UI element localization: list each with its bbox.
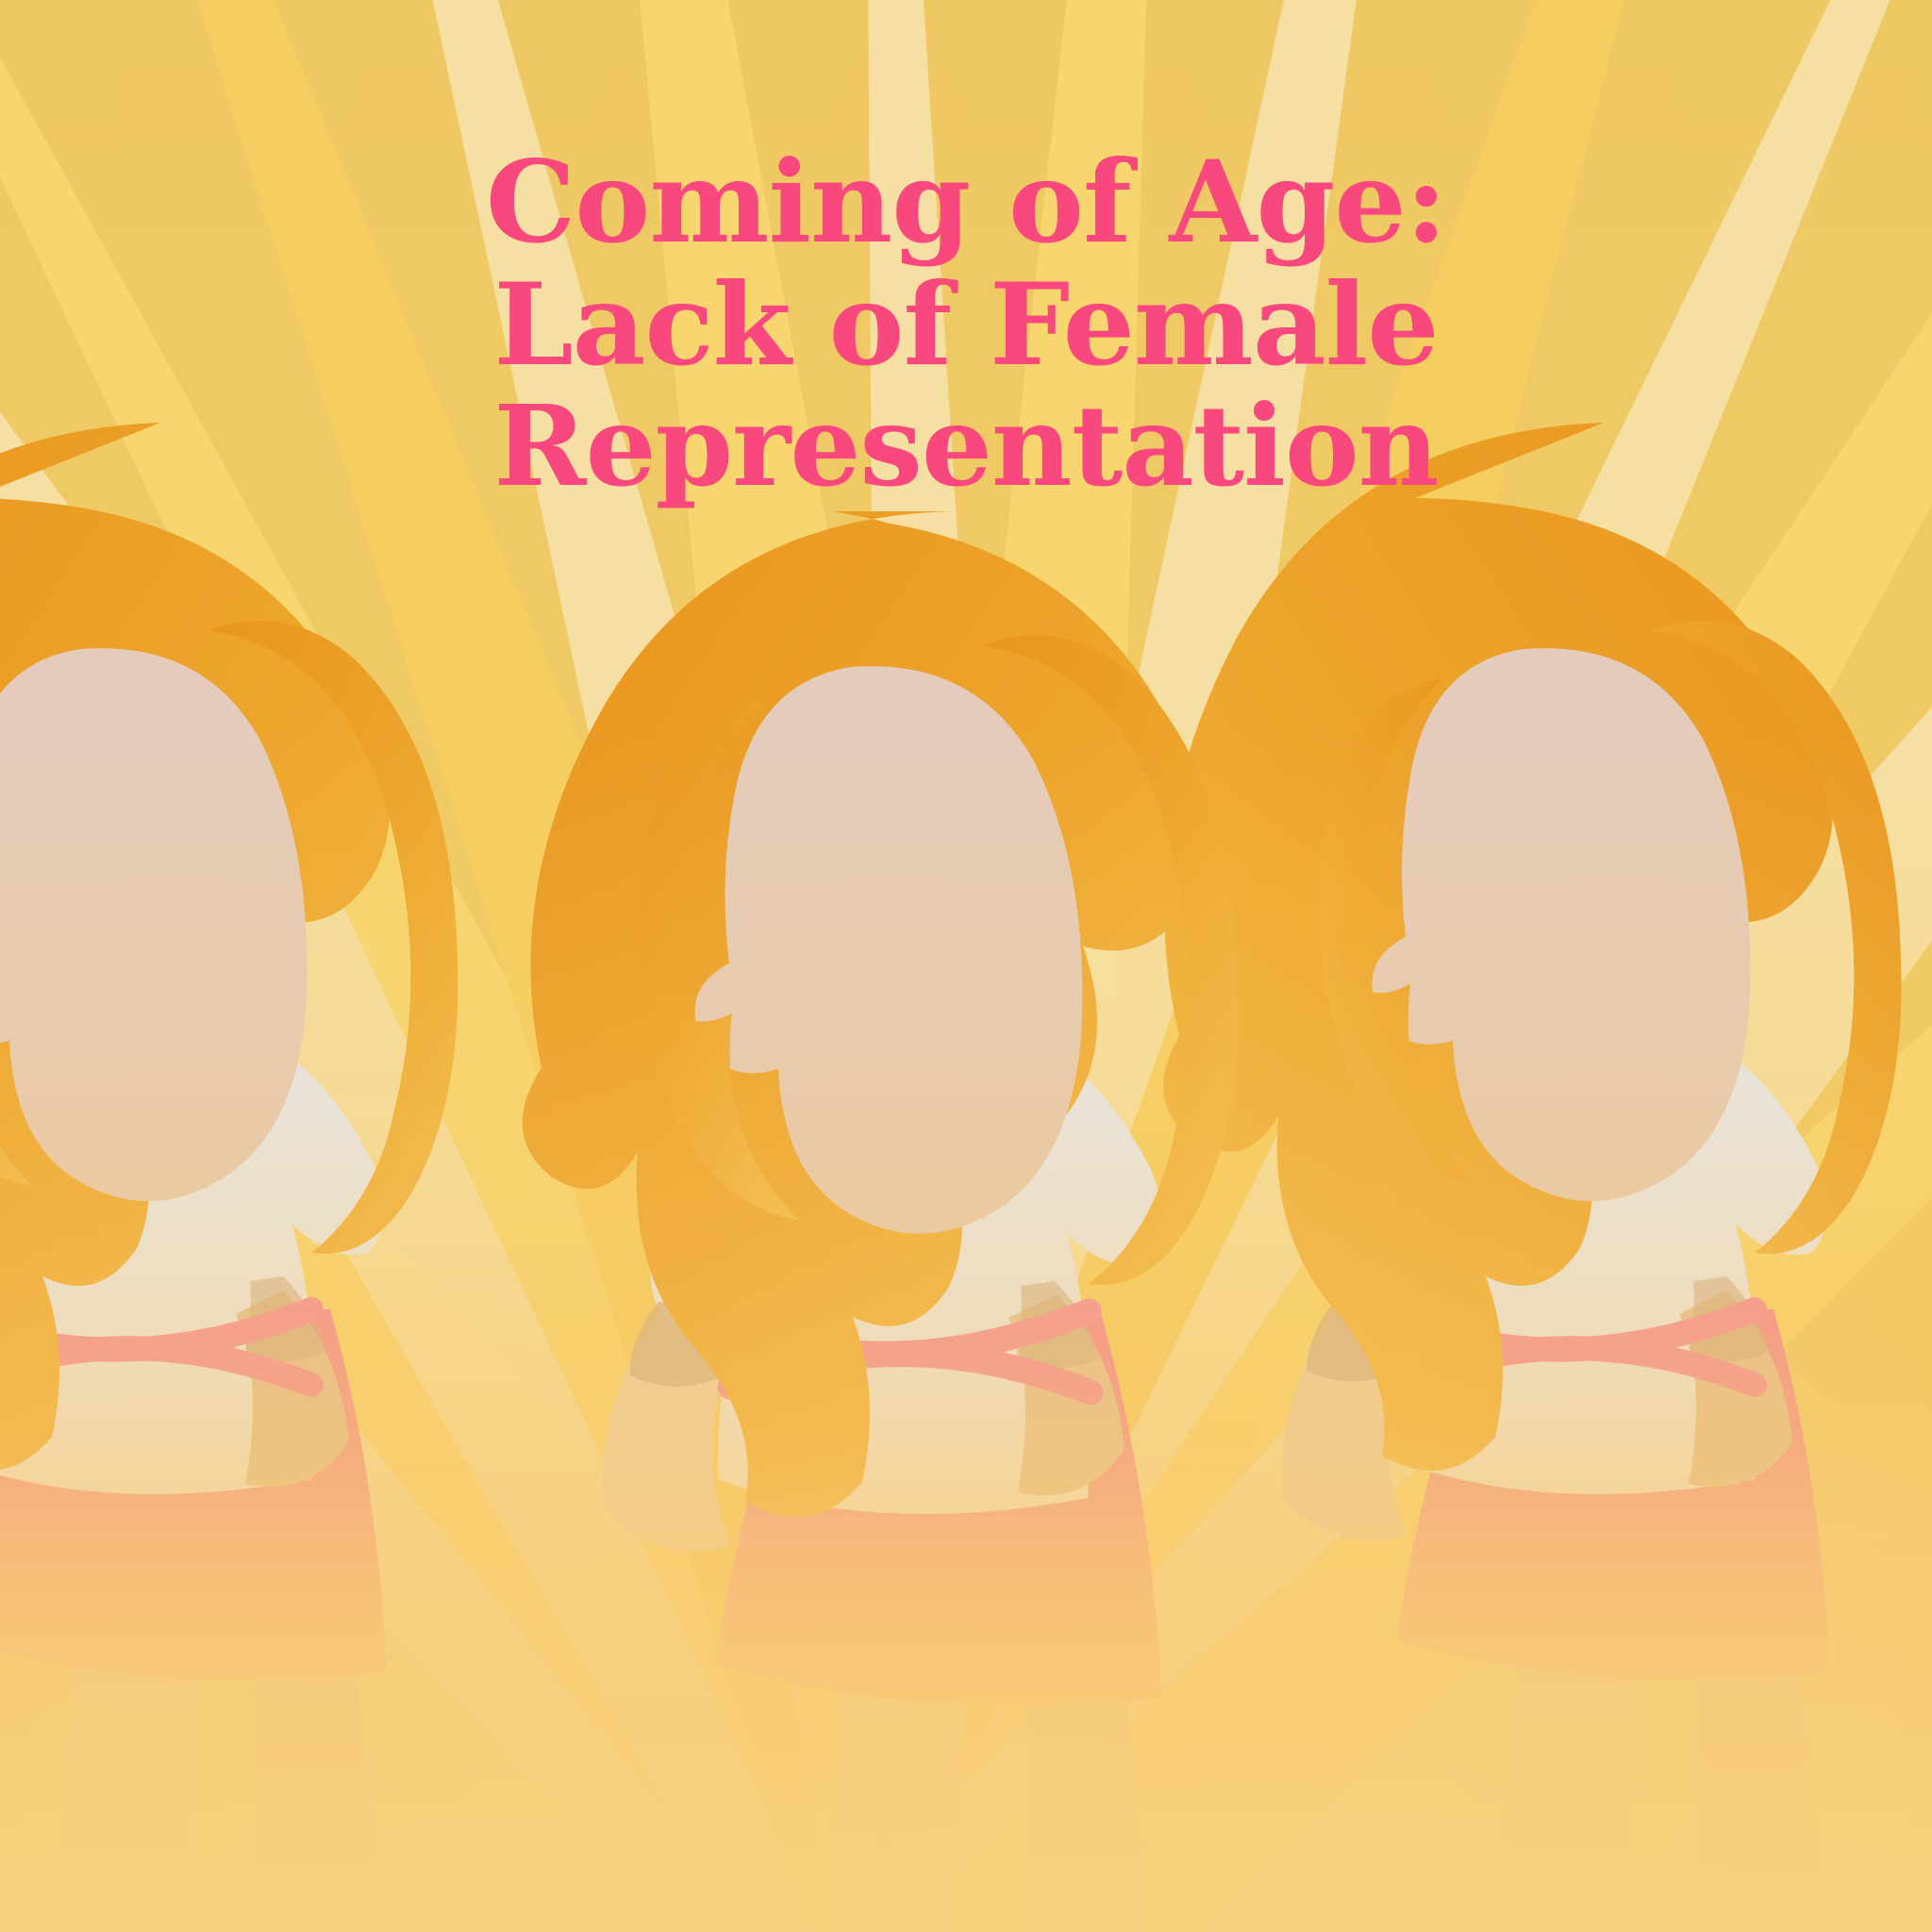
illustration-center-girl xyxy=(483,483,1449,1932)
poster-canvas: Coming of Age: Lack of Female Representa… xyxy=(0,0,1932,1932)
